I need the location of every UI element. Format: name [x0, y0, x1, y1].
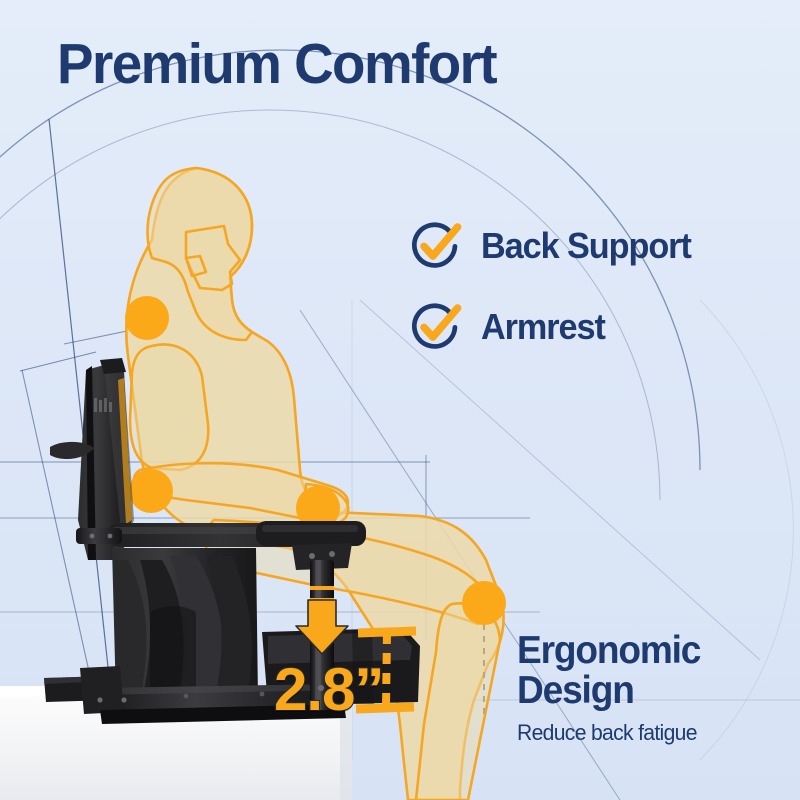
infographic-canvas: Premium Comfort Back Support Armrest Erg… [0, 0, 800, 800]
page-title: Premium Comfort [57, 33, 496, 95]
check-circle-icon [409, 300, 462, 353]
ergonomic-subtext: Reduce back fatigue [517, 720, 702, 746]
ergonomic-design-block: Ergonomic Design Reduce back fatigue [517, 631, 710, 746]
feature-item-back-support[interactable]: Back Support [409, 219, 702, 272]
ergonomic-heading-line2: Design [517, 671, 700, 711]
measurement-value: 2.8” [274, 660, 383, 720]
feature-label: Back Support [481, 225, 691, 267]
ergonomic-heading-line1: Ergonomic [517, 631, 700, 671]
feature-item-armrest[interactable]: Armrest [409, 300, 611, 353]
down-arrow-icon [296, 600, 348, 654]
feature-label: Armrest [481, 306, 605, 348]
check-circle-icon [409, 219, 462, 272]
